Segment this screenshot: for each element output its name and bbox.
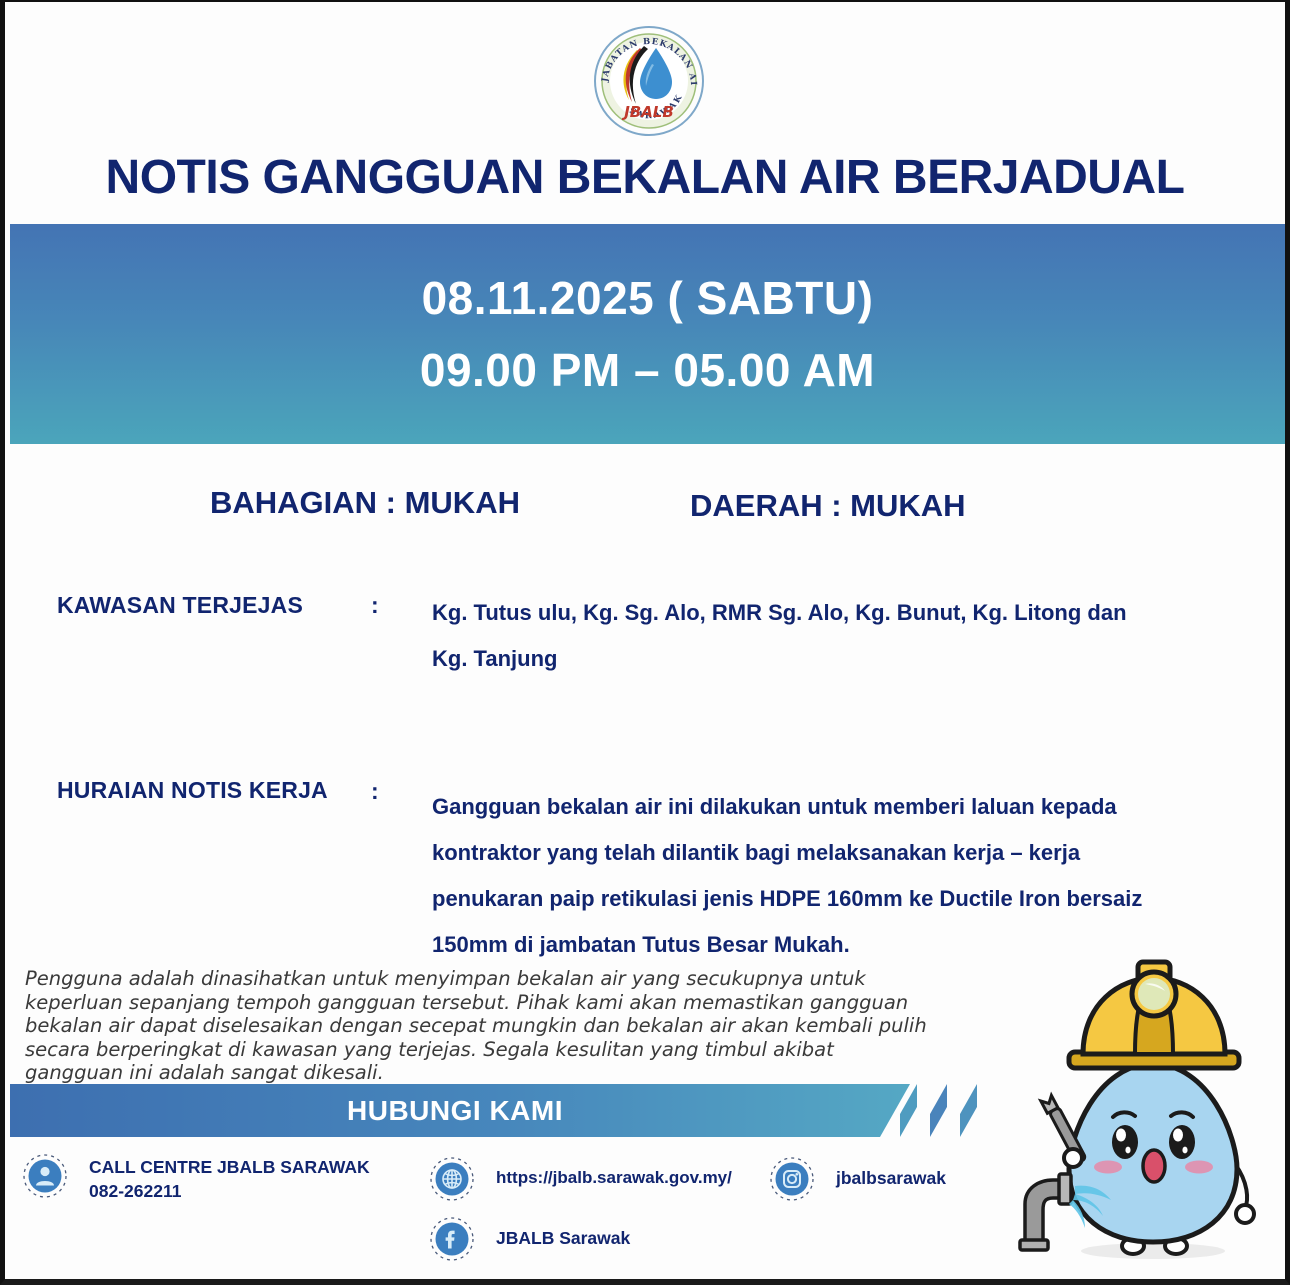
work-description-colon: :	[371, 778, 379, 805]
affected-areas-colon: :	[371, 592, 379, 619]
facebook-page[interactable]: JBALB Sarawak	[496, 1227, 630, 1249]
facebook-block[interactable]: JBALB Sarawak	[430, 1217, 630, 1261]
globe-icon	[430, 1157, 474, 1201]
decorative-stripe-2	[930, 1084, 947, 1137]
instagram-icon	[770, 1157, 814, 1201]
advisory-paragraph: Pengguna adalah dinasihatkan untuk menyi…	[25, 967, 935, 1085]
notice-page: JABATAN BEKALAN AIR LUAR BANDAR SARAWAK …	[0, 0, 1290, 1285]
schedule-banner: 08.11.2025 ( SABTU) 09.00 PM – 05.00 AM	[10, 224, 1285, 444]
call-centre-block[interactable]: CALL CENTRE JBALB SARAWAK 082-262211	[23, 1154, 370, 1202]
affected-areas-value: Kg. Tutus ulu, Kg. Sg. Alo, RMR Sg. Alo,…	[432, 590, 1162, 682]
decorative-stripe-3	[960, 1084, 977, 1137]
contact-bar-title: HUBUNGI KAMI	[10, 1084, 900, 1137]
facebook-icon	[430, 1217, 474, 1261]
schedule-time: 09.00 PM – 05.00 AM	[420, 343, 875, 397]
instagram-handle[interactable]: jbalbsarawak	[836, 1167, 946, 1189]
schedule-date: 08.11.2025 ( SABTU)	[422, 271, 874, 325]
district-label: DAERAH : MUKAH	[690, 488, 966, 524]
call-centre-name: CALL CENTRE JBALB SARAWAK	[89, 1156, 370, 1178]
website-url[interactable]: https://jbalb.sarawak.gov.my/	[496, 1167, 732, 1189]
person-icon	[23, 1154, 67, 1198]
instagram-block[interactable]: jbalbsarawak	[770, 1157, 946, 1201]
water-droplet-mascot	[1005, 954, 1283, 1274]
page-title: NOTIS GANGGUAN BEKALAN AIR BERJADUAL	[5, 150, 1285, 205]
website-block[interactable]: https://jbalb.sarawak.gov.my/	[430, 1157, 732, 1201]
work-description-label: HURAIAN NOTIS KERJA	[57, 777, 328, 804]
svg-text:JBALB: JBALB	[621, 103, 674, 121]
jbalb-logo: JABATAN BEKALAN AIR LUAR BANDAR SARAWAK …	[593, 24, 705, 138]
affected-areas-label: KAWASAN TERJEJAS	[57, 592, 303, 619]
call-centre-phone: 082-262211	[89, 1180, 370, 1202]
work-description-value: Gangguan bekalan air ini dilakukan untuk…	[432, 784, 1152, 968]
division-label: BAHAGIAN : MUKAH	[210, 485, 520, 521]
